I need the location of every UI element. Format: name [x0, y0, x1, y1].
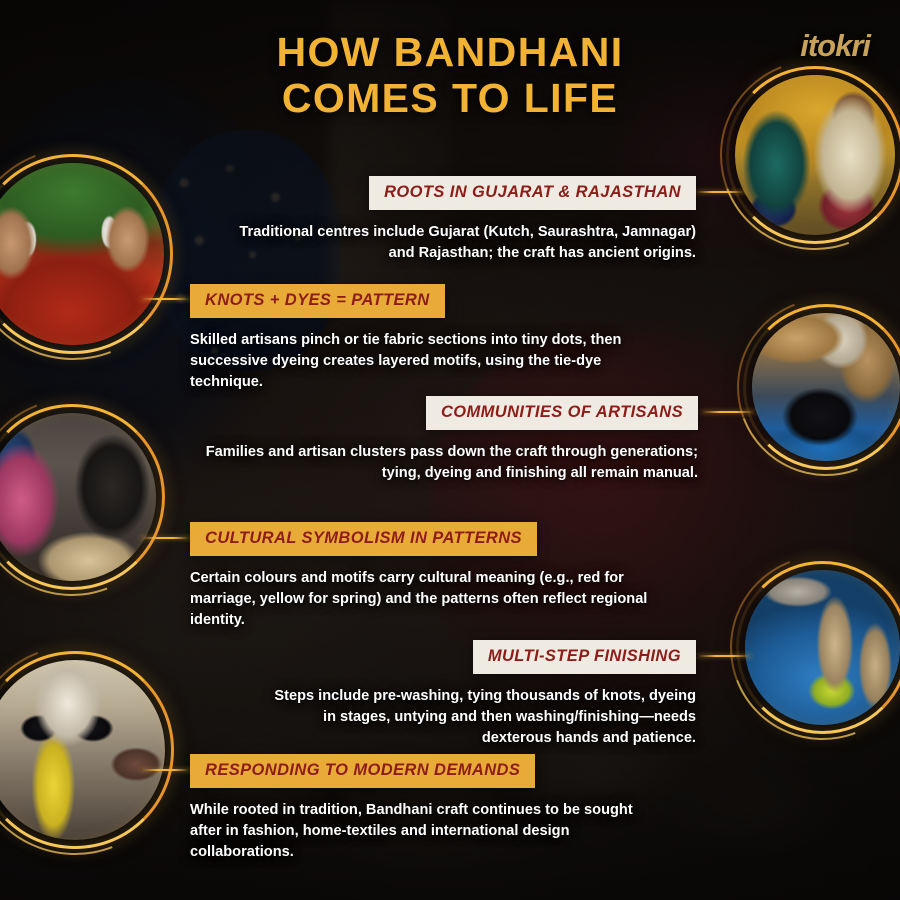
- connector-line-finishing: [696, 655, 752, 657]
- photo-tying-red-fabric: [0, 163, 164, 345]
- connector-line-knots: [140, 298, 192, 300]
- header: HOW BANDHANI COMES TO LIFE: [0, 0, 900, 122]
- connector-line-roots: [694, 191, 746, 193]
- section-body-multi-step-finishing: Steps include pre-washing, tying thousan…: [266, 686, 696, 749]
- section-cultural-symbolism: CULTURAL SYMBOLISM IN PATTERNS Certain c…: [190, 522, 670, 631]
- photo-lifting-yellow-fabric: [0, 660, 165, 840]
- photo-indigo-vat-bundles: [745, 570, 900, 725]
- photo-artisans-knotting: [0, 413, 156, 581]
- section-multi-step-finishing: MULTI-STEP FINISHING Steps include pre-w…: [266, 640, 696, 749]
- section-knots-dyes: KNOTS + DYES = PATTERN Skilled artisans …: [190, 284, 665, 393]
- connector-line-modern: [140, 769, 192, 771]
- connector-line-cultural: [140, 537, 192, 539]
- section-body-roots: Traditional centres include Gujarat (Kut…: [236, 222, 696, 264]
- section-badge-roots[interactable]: ROOTS IN GUJARAT & RAJASTHAN: [369, 176, 696, 210]
- section-modern-demands: RESPONDING TO MODERN DEMANDS While roote…: [190, 754, 660, 863]
- photo-dyer-blue-vat: [752, 313, 900, 461]
- section-badge-multi-step-finishing[interactable]: MULTI-STEP FINISHING: [473, 640, 696, 674]
- section-badge-cultural-symbolism[interactable]: CULTURAL SYMBOLISM IN PATTERNS: [190, 522, 537, 556]
- section-body-modern-demands: While rooted in tradition, Bandhani craf…: [190, 800, 660, 863]
- section-communities: COMMUNITIES OF ARTISANS Families and art…: [198, 396, 698, 484]
- page-title-line-2: COMES TO LIFE: [0, 76, 900, 122]
- section-roots: ROOTS IN GUJARAT & RAJASTHAN Traditional…: [236, 176, 696, 264]
- section-body-communities: Families and artisan clusters pass down …: [198, 442, 698, 484]
- section-badge-communities[interactable]: COMMUNITIES OF ARTISANS: [426, 396, 698, 430]
- section-badge-modern-demands[interactable]: RESPONDING TO MODERN DEMANDS: [190, 754, 535, 788]
- page-title-line-1: HOW BANDHANI: [0, 30, 900, 76]
- page-title: HOW BANDHANI COMES TO LIFE: [0, 30, 900, 122]
- brand-logo: itokri: [800, 28, 870, 64]
- section-badge-knots-dyes[interactable]: KNOTS + DYES = PATTERN: [190, 284, 445, 318]
- connector-line-communities: [700, 411, 756, 413]
- section-body-knots-dyes: Skilled artisans pinch or tie fabric sec…: [190, 330, 665, 393]
- section-body-cultural-symbolism: Certain colours and motifs carry cultura…: [190, 568, 670, 631]
